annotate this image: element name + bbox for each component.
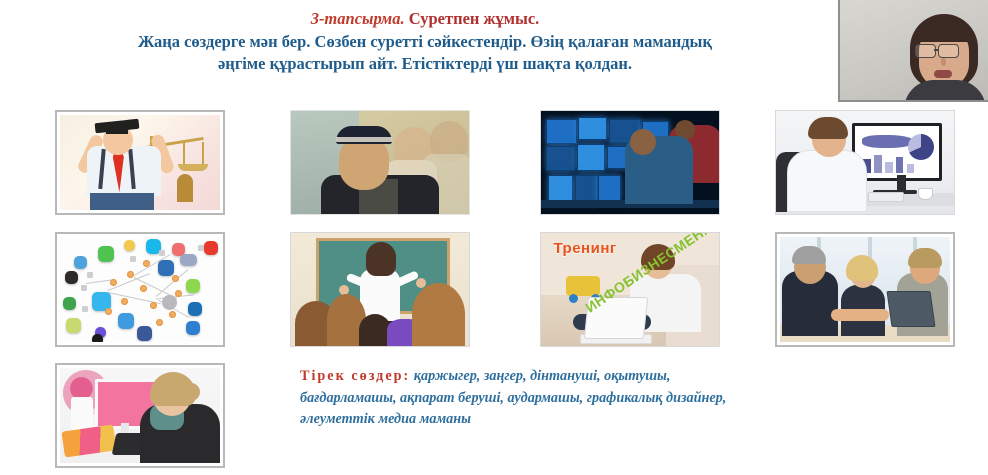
image-lawyer[interactable] (55, 110, 225, 215)
task-number-label: 3-тапсырма. (311, 9, 405, 28)
keywords-label: Тірек сөздер: (300, 368, 410, 384)
graphic-designer-photo (60, 368, 220, 463)
keywords-line-1: Тірек сөздер: қаржыгер, заңгер, дінтануш… (300, 366, 980, 388)
image-social-media[interactable] (55, 232, 225, 347)
image-programmers[interactable] (540, 110, 720, 215)
webcam-presenter-avatar (902, 14, 988, 102)
business-meeting-photo (780, 237, 950, 342)
teacher-webcam-panel[interactable] (838, 0, 988, 102)
task-title-text: Суретпен жұмыс. (409, 9, 540, 28)
keywords-line-1-text: қаржыгер, заңгер, дінтануші, оқытушы, (414, 368, 671, 384)
financier-photo (776, 111, 954, 214)
graduation-cap-icon (95, 118, 140, 133)
instruction-block: Жаңа сөздерге мән бер. Сөзбен суретті сә… (0, 31, 850, 74)
image-theologian[interactable] (290, 110, 470, 215)
laptop-icon (886, 291, 935, 327)
keywords-block: Тірек сөздер: қаржыгер, заңгер, дінтануш… (300, 366, 980, 431)
training-overlay-text: Тренинг (553, 240, 616, 257)
instruction-line-2: әңгіме құрастырып айт. Етістіктерді үш ш… (60, 53, 790, 74)
social-network-diagram (60, 237, 220, 342)
keywords-line-2: бағдарламашы, ақпарат беруші, аудармашы,… (300, 388, 980, 410)
task-title-line: 3-тапсырма. Суретпен жұмыс. (0, 8, 850, 29)
lawyer-illustration (60, 115, 220, 210)
info-business-photo: Тренинг ИНФОБИЗНЕСМЕНА (541, 233, 719, 346)
theologian-photo (291, 111, 469, 214)
image-business-deal[interactable] (775, 232, 955, 347)
image-info-business[interactable]: Тренинг ИНФОБИЗНЕСМЕНА (540, 232, 720, 347)
image-designer[interactable] (55, 363, 225, 468)
keywords-line-3: әлеуметтік медиа маманы (300, 409, 980, 431)
image-teacher[interactable] (290, 232, 470, 347)
glasses-icon (915, 44, 936, 58)
teacher-classroom-photo (291, 233, 469, 346)
slide-header: 3-тапсырма. Суретпен жұмыс. Жаңа сөздерг… (0, 8, 850, 74)
control-room-photo (541, 111, 719, 214)
color-swatch-icon (62, 424, 117, 457)
instruction-line-1: Жаңа сөздерге мән бер. Сөзбен суретті сә… (60, 31, 790, 52)
image-financier[interactable] (775, 110, 955, 215)
presentation-slide: 3-тапсырма. Суретпен жұмыс. Жаңа сөздерг… (0, 0, 988, 475)
